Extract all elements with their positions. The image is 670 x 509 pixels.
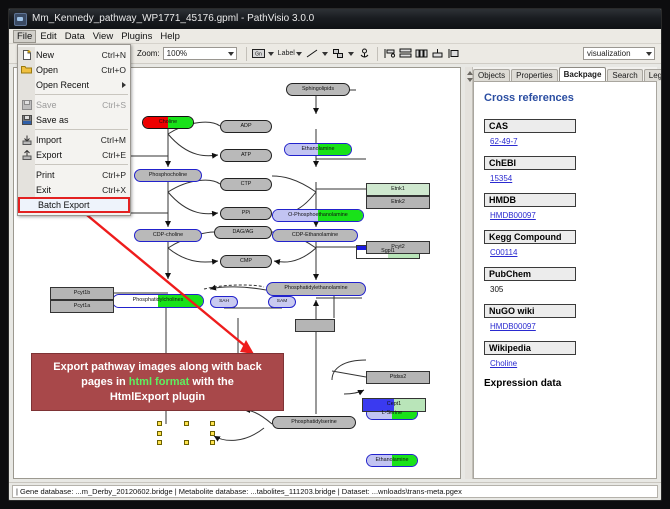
menu-item-save: Save Ctrl+S xyxy=(18,97,130,112)
datanode-dropdown-icon[interactable] xyxy=(268,52,274,56)
node-chka[interactable] xyxy=(295,319,335,332)
node-adp[interactable]: ADP xyxy=(220,120,272,133)
new-file-icon xyxy=(20,49,33,60)
annotation-line2-b: with the xyxy=(189,376,234,388)
node-ppi[interactable]: PPi xyxy=(220,207,272,220)
save-as-icon xyxy=(20,114,33,125)
label-dropdown-icon[interactable] xyxy=(296,52,302,56)
annotation-highlight: html format xyxy=(129,376,190,388)
line-dropdown-icon[interactable] xyxy=(322,52,328,56)
node-etnk1[interactable]: Etnk1 xyxy=(366,183,430,196)
selection-handle-n[interactable] xyxy=(184,421,189,426)
status-text: | Gene database: ...m_Derby_20120602.bri… xyxy=(12,485,658,498)
node-ptdss2[interactable]: Ptdss2 xyxy=(366,371,430,384)
pathvisio-window: Mm_Kennedy_pathway_WP1771_45176.gpml - P… xyxy=(8,8,662,501)
zoom-value: 100% xyxy=(167,49,187,58)
annotation-line2-a: pages in xyxy=(81,376,129,388)
menu-item-exit[interactable]: Exit Ctrl+X xyxy=(18,182,130,197)
annotation-line1: Export pathway images along with back xyxy=(53,361,261,373)
xref-source-label: HMDB xyxy=(484,193,576,207)
backpage-content: Cross references CAS 62-49-7 ChEBI 15354… xyxy=(473,81,657,479)
node-choline-top[interactable]: Choline xyxy=(142,116,194,129)
selection-handle-se[interactable] xyxy=(210,440,215,445)
node-phosphatidylcholines[interactable]: Phosphatidylcholines xyxy=(112,294,204,308)
submenu-arrow-icon xyxy=(122,82,126,88)
node-ctp[interactable]: CTP xyxy=(220,178,272,191)
selection-handle-e[interactable] xyxy=(210,431,215,436)
menu-item-import[interactable]: Import Ctrl+M xyxy=(18,132,130,147)
xref-kegg-compound: Kegg Compound C00114 xyxy=(484,227,646,257)
xref-nugo-wiki: NuGO wiki HMDB00097 xyxy=(484,301,646,331)
cross-references-title: Cross references xyxy=(484,92,646,104)
node-phosphocholine[interactable]: Phosphocholine xyxy=(134,169,202,182)
visualization-combobox[interactable]: visualization xyxy=(583,47,655,60)
selection-handle-s[interactable] xyxy=(184,440,189,445)
import-icon xyxy=(20,134,33,145)
visualization-value: visualization xyxy=(587,49,631,58)
xref-value-link[interactable]: HMDB00097 xyxy=(490,322,646,331)
xref-source-label: CAS xyxy=(484,119,576,133)
menu-item-print[interactable]: Print Ctrl+P xyxy=(18,167,130,182)
menu-item-new[interactable]: New Ctrl+N xyxy=(18,47,130,62)
tab-search[interactable]: Search xyxy=(607,69,642,81)
tab-legend[interactable]: Legend xyxy=(644,69,662,81)
file-menu-dropdown[interactable]: New Ctrl+N Open Ctrl+O Open Recent Save … xyxy=(17,44,131,216)
title-bar: Mm_Kennedy_pathway_WP1771_45176.gpml - P… xyxy=(9,9,661,29)
tab-backpage[interactable]: Backpage xyxy=(559,67,607,81)
node-pcyt2[interactable]: Pcyt2 xyxy=(366,241,430,254)
panel-collapse-grip[interactable] xyxy=(465,67,473,479)
node-pcyt1b[interactable]: Pcyt1b xyxy=(50,287,114,300)
menu-item-export[interactable]: Export Ctrl+E xyxy=(18,147,130,162)
toolbar-separator xyxy=(246,47,247,61)
node-atp[interactable]: ATP xyxy=(220,149,272,162)
screenshot-root: Mm_Kennedy_pathway_WP1771_45176.gpml - P… xyxy=(0,0,670,509)
align-left-tool-icon[interactable] xyxy=(383,47,397,61)
node-etnk2[interactable]: Etnk2 xyxy=(366,196,430,209)
tab-objects[interactable]: Objects xyxy=(473,69,510,81)
xref-value-text: 305 xyxy=(490,285,646,294)
node-sam[interactable]: SAM xyxy=(268,296,296,308)
menu-separator xyxy=(20,94,128,95)
tab-properties[interactable]: Properties xyxy=(511,69,557,81)
chevron-down-icon xyxy=(228,52,234,56)
xref-hmdb: HMDB HMDB00097 xyxy=(484,190,646,220)
save-disk-icon xyxy=(20,99,33,110)
xref-pubchem: PubChem 305 xyxy=(484,264,646,294)
menu-data[interactable]: Data xyxy=(61,30,89,43)
xref-source-label: NuGO wiki xyxy=(484,304,576,318)
toolbar-separator-2 xyxy=(377,47,378,61)
menu-separator-2 xyxy=(20,129,128,130)
xref-source-label: PubChem xyxy=(484,267,576,281)
selection-handle-ne[interactable] xyxy=(210,421,215,426)
shape-tool-icon[interactable] xyxy=(332,47,346,61)
menu-plugins[interactable]: Plugins xyxy=(117,30,156,43)
node-phosphatidylserine[interactable]: Phosphatidylserine xyxy=(272,416,356,429)
blank-icon-4 xyxy=(22,200,35,211)
node-cdp-choline[interactable]: CDP-choline xyxy=(134,229,202,242)
distribute-tool-icon[interactable] xyxy=(415,47,429,61)
zoom-combobox[interactable]: 100% xyxy=(163,47,237,60)
node-sphingolipids[interactable]: Sphingolipids xyxy=(286,83,350,96)
xref-wikipedia: Wikipedia Choline xyxy=(484,338,646,368)
menu-item-save-as[interactable]: Save as xyxy=(18,112,130,127)
menu-item-open[interactable]: Open Ctrl+O xyxy=(18,62,130,77)
node-phosphatidylethanolamine[interactable]: Phosphatidylethanolamine xyxy=(266,282,366,296)
window-title: Mm_Kennedy_pathway_WP1771_45176.gpml - P… xyxy=(32,9,314,29)
export-icon xyxy=(20,149,33,160)
menu-file[interactable]: File xyxy=(13,30,36,43)
blank-icon-3 xyxy=(20,184,33,195)
xref-value-link[interactable]: HMDB00097 xyxy=(490,211,646,220)
node-dag[interactable]: DAG/AG xyxy=(214,226,272,239)
xref-source-label: Kegg Compound xyxy=(484,230,576,244)
datanode-tool-icon[interactable]: Gn xyxy=(252,47,266,61)
align-stack-tool-icon[interactable] xyxy=(399,47,413,61)
anchor-tool-icon[interactable] xyxy=(358,47,372,61)
node-cdp-ethanolamine[interactable]: CDP-Ethanolamine xyxy=(272,229,358,242)
annotation-line3: HtmlExport plugin xyxy=(110,391,205,403)
status-bar: | Gene database: ...m_Derby_20120602.bri… xyxy=(9,482,661,500)
blank-icon-2 xyxy=(20,169,33,180)
menu-view[interactable]: View xyxy=(89,30,117,43)
side-panel: Objects Properties Backpage Search Legen… xyxy=(465,67,657,479)
panel-tabstrip: Objects Properties Backpage Search Legen… xyxy=(473,67,657,81)
xref-source-label: Wikipedia xyxy=(484,341,576,355)
node-sah[interactable]: SAH xyxy=(210,296,238,308)
xref-chebi: ChEBI 15354 xyxy=(484,153,646,183)
xref-cas: CAS 62-49-7 xyxy=(484,116,646,146)
pathvisio-app-icon xyxy=(14,13,27,26)
size-tool-icon[interactable] xyxy=(431,47,445,61)
chevron-down-icon-2 xyxy=(646,52,652,56)
open-folder-icon xyxy=(20,64,33,75)
xref-value-link[interactable]: Choline xyxy=(490,359,646,368)
node-ethanolamine-top[interactable]: Ethanolamine xyxy=(284,143,352,156)
node-pcyt1a[interactable]: Pcyt1a xyxy=(50,300,114,313)
order-tool-icon[interactable] xyxy=(447,47,461,61)
menu-item-batch-export[interactable]: Batch Export xyxy=(18,197,130,213)
menu-bar: File Edit Data View Plugins Help xyxy=(9,29,661,44)
expression-data-title: Expression data xyxy=(484,378,646,389)
selection-handle-nw[interactable] xyxy=(157,421,162,426)
node-o-phosphoethanolamine[interactable]: O-Phosphoethanolamine xyxy=(272,209,364,222)
node-ethanolamine-bottom[interactable]: Ethanolamine xyxy=(366,454,418,467)
xref-value-link[interactable]: 62-49-7 xyxy=(490,137,646,146)
svg-text:Gn: Gn xyxy=(255,52,262,58)
xref-value-link[interactable]: 15354 xyxy=(490,174,646,183)
blank-icon xyxy=(20,79,33,90)
selection-handle-w[interactable] xyxy=(157,431,162,436)
shape-dropdown-icon[interactable] xyxy=(348,52,354,56)
menu-item-open-recent[interactable]: Open Recent xyxy=(18,77,130,92)
xref-source-label: ChEBI xyxy=(484,156,576,170)
selection-handle-sw[interactable] xyxy=(157,440,162,445)
menu-help[interactable]: Help xyxy=(156,30,184,43)
line-tool-icon[interactable] xyxy=(306,47,320,61)
menu-separator-3 xyxy=(20,164,128,165)
node-cmp[interactable]: CMP xyxy=(220,255,272,268)
menu-edit[interactable]: Edit xyxy=(36,30,60,43)
annotation-callout: Export pathway images along with back pa… xyxy=(31,353,284,411)
zoom-label: Zoom: xyxy=(137,49,160,58)
label-tool-label[interactable]: Label xyxy=(278,50,295,57)
xref-value-link[interactable]: C00114 xyxy=(490,248,646,257)
